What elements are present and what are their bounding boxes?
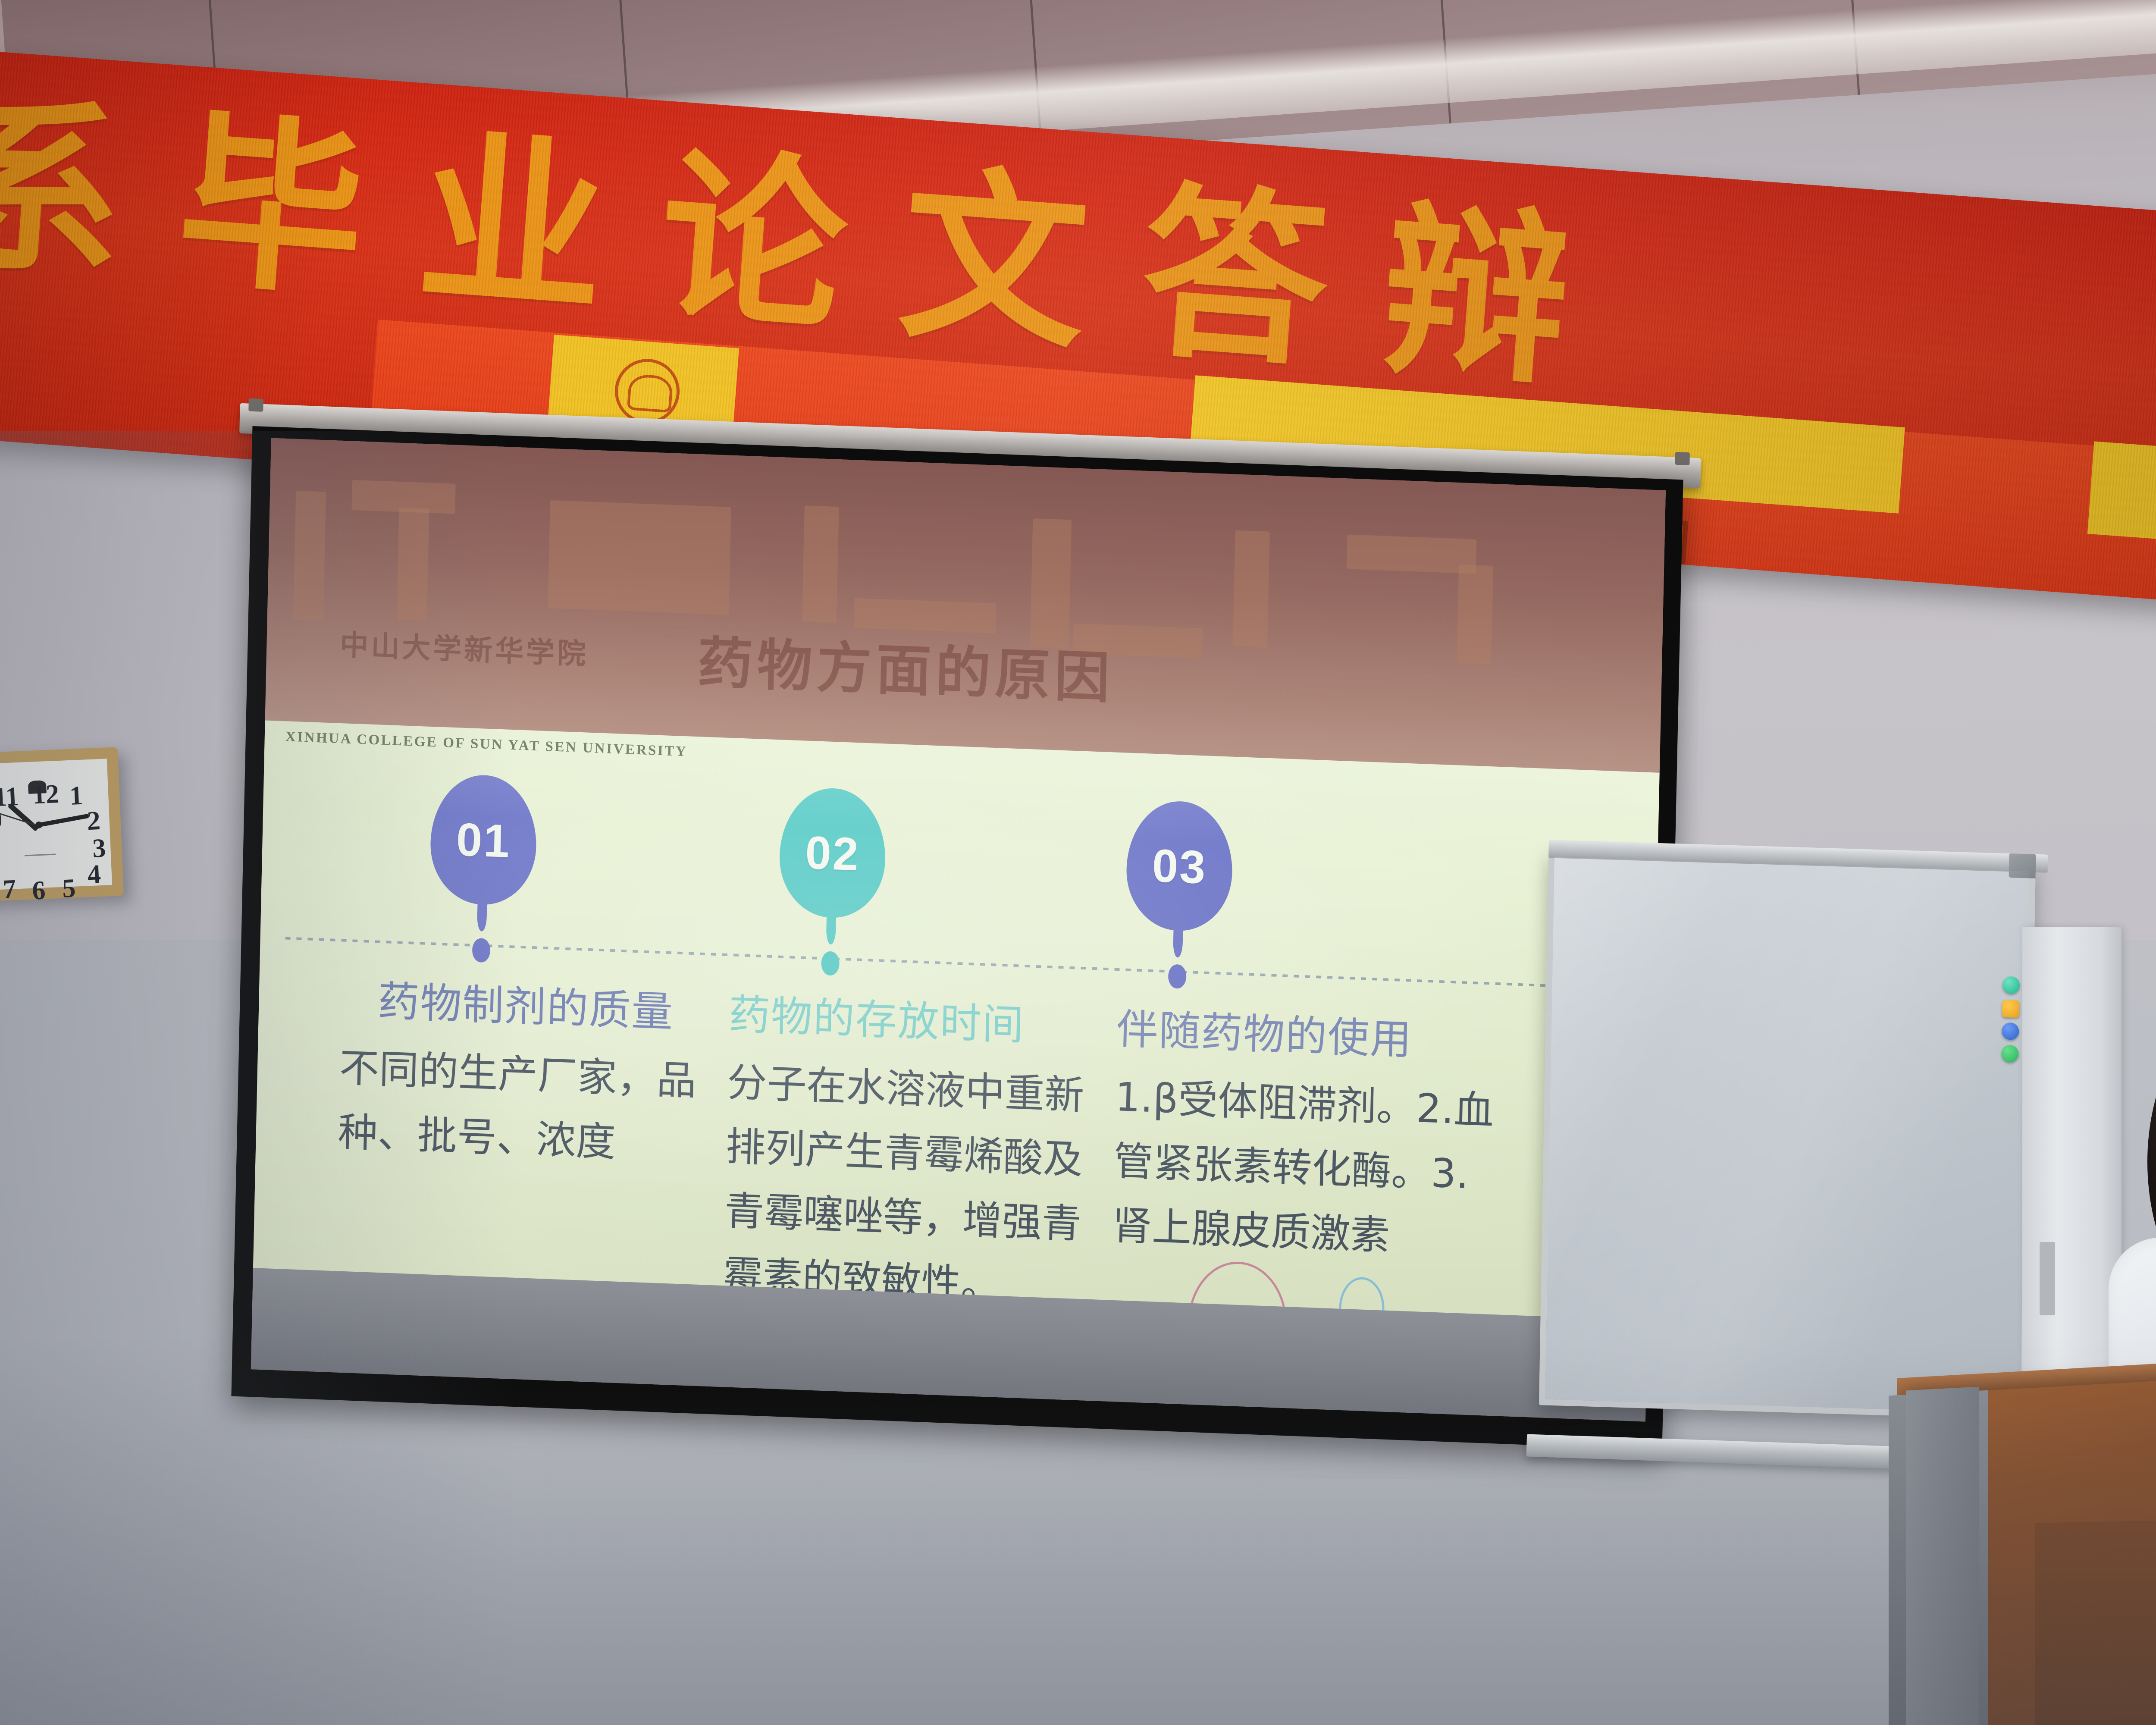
slide-column-3: 伴随药物的使用 1.β受体阻滞剂。2.血管紧张素转化酶。3.肾上腺皮质激素 — [1112, 1005, 1496, 1272]
slide-column-3-heading: 伴随药物的使用 — [1116, 1005, 1496, 1068]
timeline-marker-02-number: 02 — [805, 825, 860, 881]
magnet-orange[interactable] — [2002, 1000, 2020, 1018]
slide-column-2-heading: 药物的存放时间 — [728, 990, 1109, 1053]
slide-column-2-body: 分子在水溶液中重新排列产生青霉烯酸及青霉噻唑等，增强青霉素的致敏性。 — [722, 1050, 1107, 1320]
timeline-marker-03-number: 03 — [1152, 838, 1207, 894]
timeline-node-02 — [821, 951, 840, 976]
projected-overlay-title: 药物方面的原因 — [697, 618, 1302, 720]
slide-column-2: 药物的存放时间 分子在水溶液中重新排列产生青霉烯酸及青霉噻唑等，增强青霉素的致敏… — [722, 990, 1109, 1320]
whiteboard-glare — [1545, 857, 2030, 1414]
classroom-scene: 系毕业论文答辩 中山大学新华学院 药物方面的原因 SJYO 12 1 2 3 4… — [0, 0, 2156, 1725]
timeline-marker-03: 03 — [1125, 800, 1234, 933]
wall-switch-plate[interactable] — [2040, 1242, 2055, 1315]
slide-column-3-body: 1.β受体阻滞剂。2.血管紧张素转化酶。3.肾上腺皮质激素 — [1112, 1065, 1495, 1272]
ambient-shadow-bottom — [0, 1337, 2156, 1725]
timeline-node-03 — [1168, 964, 1187, 989]
whiteboard[interactable] — [1539, 851, 2036, 1419]
timeline-marker-02: 02 — [778, 786, 887, 919]
banner-highlight-block-3 — [2087, 441, 2156, 555]
university-seal-logo-icon — [613, 357, 682, 426]
